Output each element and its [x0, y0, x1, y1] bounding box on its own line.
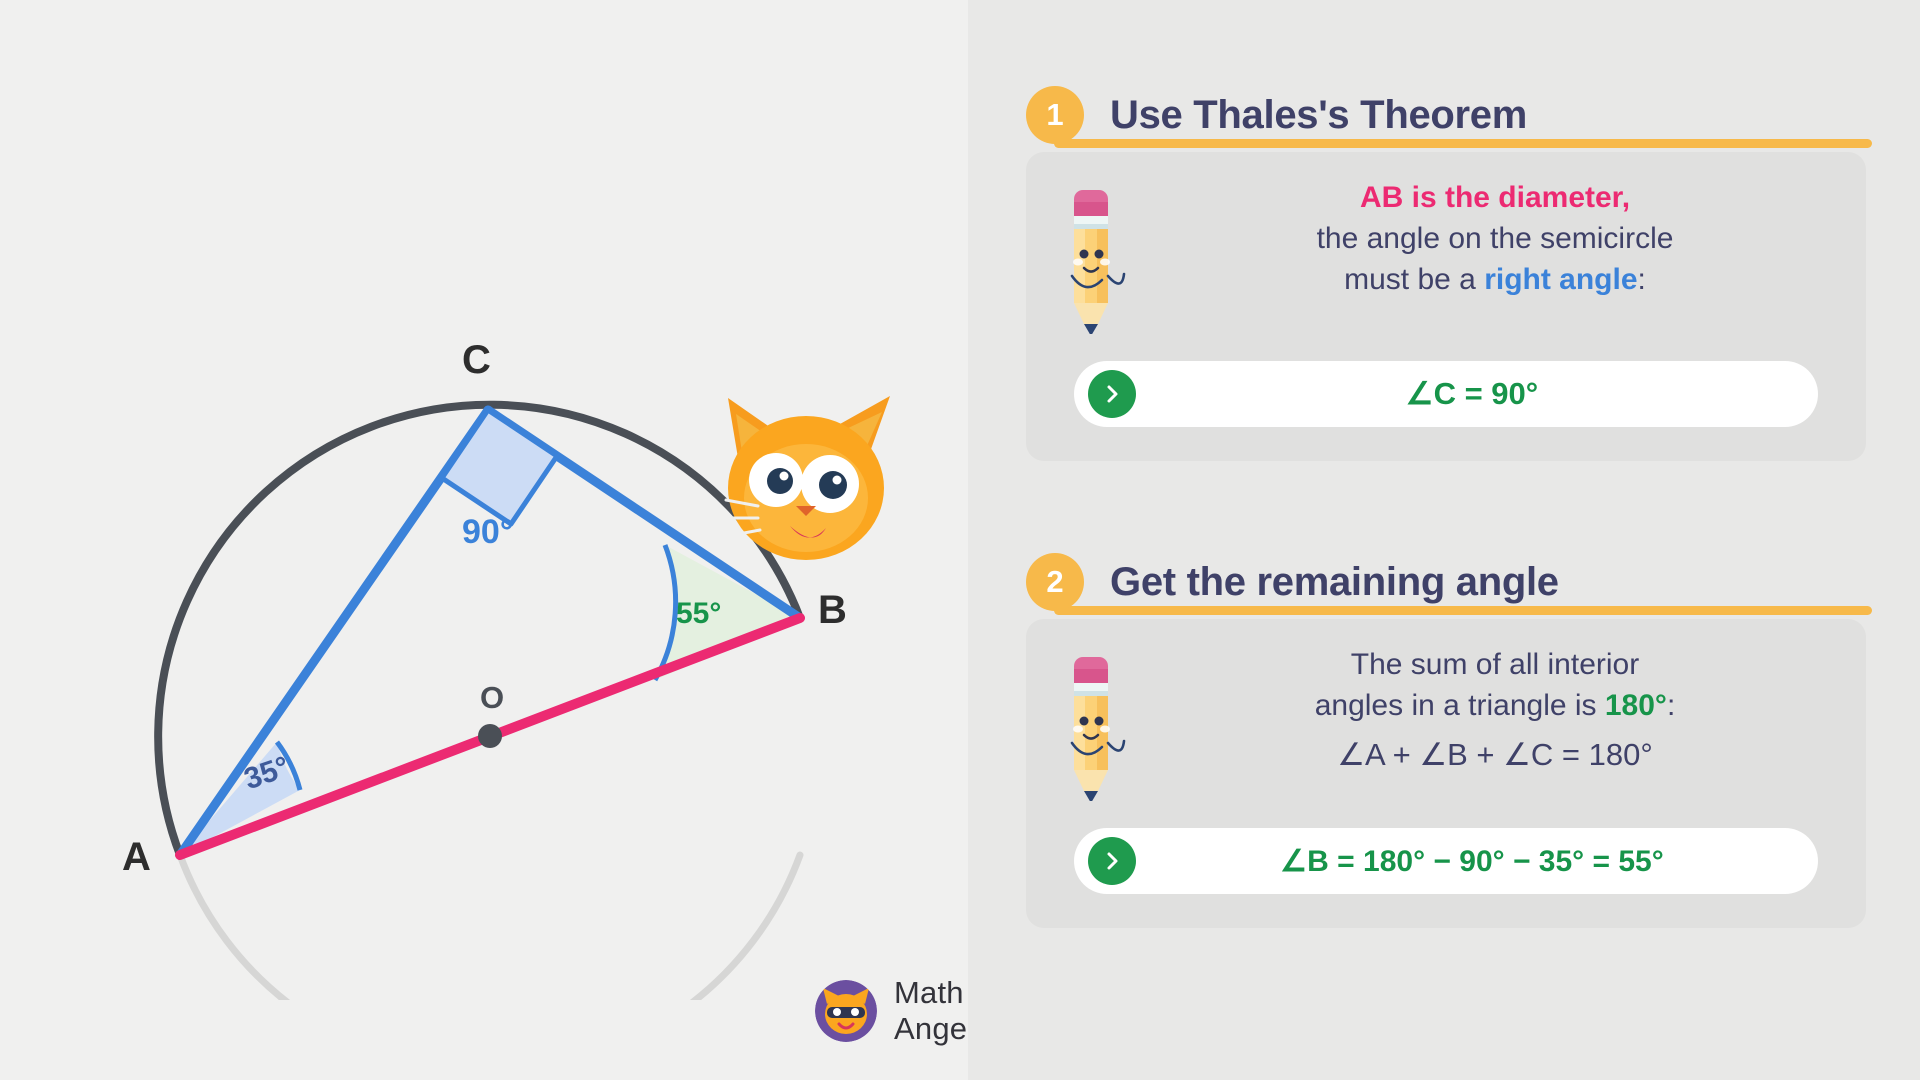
step-2-line-2-strong: 180°	[1605, 689, 1667, 722]
chevron-right-icon[interactable]	[1088, 370, 1136, 418]
step-2-line-1: The sum of all interior	[1176, 645, 1814, 686]
infographic-root: C B A O 90° 55° 35°	[0, 0, 1920, 1080]
step-1-line-3-post: :	[1638, 263, 1646, 296]
step-2-underline	[1054, 606, 1872, 615]
step-2-formula: ∠A + ∠B + ∠C = 180°	[1176, 737, 1814, 773]
angle-label-55: 55°	[676, 597, 721, 631]
vertex-label-b: B	[818, 588, 847, 633]
brand-name-label: Math Angel	[894, 975, 974, 1047]
pencil-mascot-icon	[1056, 184, 1126, 334]
step-1-badge: 1	[1026, 86, 1084, 144]
step-2-answer-pill[interactable]: ∠B = 180° − 90° − 35° = 55°	[1074, 828, 1818, 894]
step-2-line-2-post: :	[1667, 689, 1675, 722]
step-1-answer-text: ∠C = 90°	[1162, 376, 1782, 412]
step-1-answer-pill[interactable]: ∠C = 90°	[1074, 361, 1818, 427]
step-2-card: The sum of all interior angles in a tria…	[1026, 619, 1866, 928]
center-label-o: O	[480, 680, 504, 716]
step-block-2: 2 Get the remaining angle	[968, 545, 1920, 928]
right-angle-marker	[442, 410, 557, 524]
step-2-header: 2 Get the remaining angle	[968, 545, 1920, 619]
step-block-1: 1 Use Thales's Theorem	[968, 78, 1920, 461]
brand-footer: Math Angel	[815, 975, 974, 1047]
angle-label-90: 90°	[462, 513, 513, 552]
step-1-title: Use Thales's Theorem	[1110, 93, 1527, 138]
pencil-mascot-1-slot	[1056, 178, 1176, 339]
vertex-label-c: C	[462, 338, 491, 383]
pencil-mascot-icon	[1056, 651, 1126, 801]
step-1-card: AB is the diameter, the angle on the sem…	[1026, 152, 1866, 461]
step-2-line-2-pre: angles in a triangle is	[1315, 689, 1605, 722]
vertex-label-a: A	[122, 835, 151, 880]
center-point-dot	[478, 724, 502, 748]
pencil-mascot-2-slot	[1056, 645, 1176, 806]
step-2-answer-text: ∠B = 180° − 90° − 35° = 55°	[1162, 844, 1782, 879]
brand-logo-icon	[815, 980, 877, 1042]
cat-mascot-icon	[718, 380, 903, 580]
step-1-header: 1 Use Thales's Theorem	[968, 78, 1920, 152]
step-1-line-3-pre: must be a	[1344, 263, 1484, 296]
step-2-badge: 2	[1026, 553, 1084, 611]
step-1-line-3-strong: right angle	[1484, 263, 1637, 296]
step-1-line-2: the angle on the semicircle	[1176, 219, 1814, 260]
steps-panel: 1 Use Thales's Theorem	[968, 0, 1920, 1080]
step-2-title: Get the remaining angle	[1110, 560, 1559, 605]
step-1-strong-line: AB is the diameter,	[1360, 181, 1630, 214]
circle-lower-arc	[180, 855, 800, 1000]
chevron-right-icon[interactable]	[1088, 837, 1136, 885]
diagram-panel: C B A O 90° 55° 35°	[0, 0, 968, 1080]
step-1-underline	[1054, 139, 1872, 148]
